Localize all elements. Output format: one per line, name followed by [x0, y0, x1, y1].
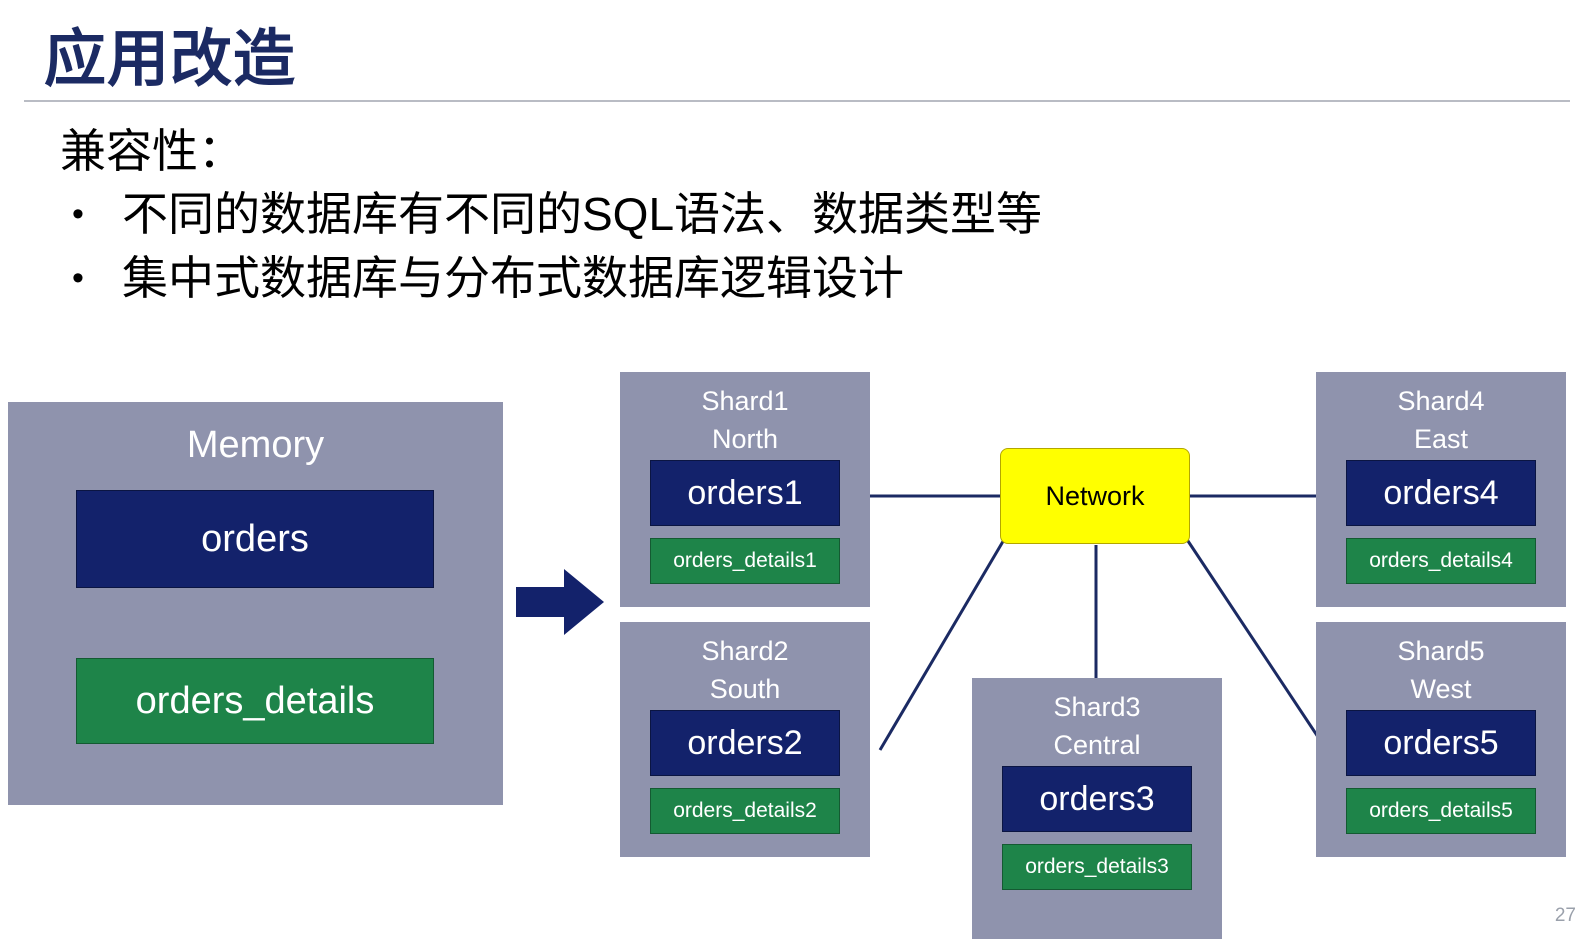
network-node-label: Network: [1045, 481, 1144, 512]
memory-panel: Memory orders orders_details: [8, 402, 503, 805]
shard3-title-text: Shard3: [972, 688, 1222, 726]
shard-panel-shard1: Shard1 North orders1 orders_details1: [620, 372, 870, 607]
shard1-main-table-label: orders1: [687, 474, 802, 513]
shard1-detail-table-label: orders_details1: [673, 549, 817, 573]
shard2-subtitle-text: South: [620, 670, 870, 708]
shard3-main-table: orders3: [1002, 766, 1192, 832]
shard-panel-shard3: Shard3 Central orders3 orders_details3: [972, 678, 1222, 939]
shard1-title: Shard1 North: [620, 382, 870, 458]
shard5-main-table: orders5: [1346, 710, 1536, 776]
shard4-subtitle-text: East: [1316, 420, 1566, 458]
memory-table-orders-details-label: orders_details: [136, 680, 375, 723]
bullet-item-2: • 集中式数据库与分布式数据库逻辑设计: [60, 246, 1540, 310]
shard4-main-table-label: orders4: [1383, 474, 1498, 513]
memory-label: Memory: [8, 424, 503, 467]
compatibility-lead: 兼容性：: [60, 120, 1540, 182]
memory-table-orders: orders: [76, 490, 434, 588]
shard4-detail-table-label: orders_details4: [1369, 549, 1513, 573]
shard4-title: Shard4 East: [1316, 382, 1566, 458]
memory-table-orders-details: orders_details: [76, 658, 434, 744]
shard5-subtitle-text: West: [1316, 670, 1566, 708]
page-title: 应用改造: [44, 8, 296, 98]
shard3-main-table-label: orders3: [1039, 780, 1154, 819]
bullet-text-1: 不同的数据库有不同的SQL语法、数据类型等: [122, 182, 1042, 246]
title-divider: [24, 100, 1570, 102]
shard-panel-shard4: Shard4 East orders4 orders_details4: [1316, 372, 1566, 607]
shard2-detail-table: orders_details2: [650, 788, 840, 834]
shard4-title-text: Shard4: [1316, 382, 1566, 420]
flow-arrow-icon: [516, 565, 606, 640]
sharding-diagram: Memory orders orders_details Shard1 Nort…: [0, 370, 1594, 939]
shard5-main-table-label: orders5: [1383, 724, 1498, 763]
shard2-title-text: Shard2: [620, 632, 870, 670]
body-text-block: 兼容性： • 不同的数据库有不同的SQL语法、数据类型等 • 集中式数据库与分布…: [60, 120, 1540, 310]
bullet-text-2: 集中式数据库与分布式数据库逻辑设计: [122, 246, 904, 310]
shard3-title: Shard3 Central: [972, 688, 1222, 764]
shard5-detail-table-label: orders_details5: [1369, 799, 1513, 823]
shard1-main-table: orders1: [650, 460, 840, 526]
shard5-detail-table: orders_details5: [1346, 788, 1536, 834]
shard2-detail-table-label: orders_details2: [673, 799, 817, 823]
shard4-detail-table: orders_details4: [1346, 538, 1536, 584]
shard-panel-shard5: Shard5 West orders5 orders_details5: [1316, 622, 1566, 857]
shard1-subtitle-text: North: [620, 420, 870, 458]
bullet-item-1: • 不同的数据库有不同的SQL语法、数据类型等: [60, 182, 1540, 246]
slide-root: 应用改造 兼容性： • 不同的数据库有不同的SQL语法、数据类型等 • 集中式数…: [0, 0, 1594, 939]
shard1-title-text: Shard1: [620, 382, 870, 420]
shard3-subtitle-text: Central: [972, 726, 1222, 764]
bullet-marker-icon: •: [60, 246, 122, 310]
shard1-detail-table: orders_details1: [650, 538, 840, 584]
network-node: Network: [1000, 448, 1190, 544]
page-number: 27: [1555, 905, 1576, 927]
shard-panel-shard2: Shard2 South orders2 orders_details2: [620, 622, 870, 857]
shard2-main-table-label: orders2: [687, 724, 802, 763]
shard2-title: Shard2 South: [620, 632, 870, 708]
shard4-main-table: orders4: [1346, 460, 1536, 526]
shard5-title: Shard5 West: [1316, 632, 1566, 708]
shard3-detail-table: orders_details3: [1002, 844, 1192, 890]
shard3-detail-table-label: orders_details3: [1025, 855, 1169, 879]
memory-table-orders-label: orders: [201, 518, 309, 561]
shard5-title-text: Shard5: [1316, 632, 1566, 670]
bullet-marker-icon: •: [60, 182, 122, 246]
shard2-main-table: orders2: [650, 710, 840, 776]
